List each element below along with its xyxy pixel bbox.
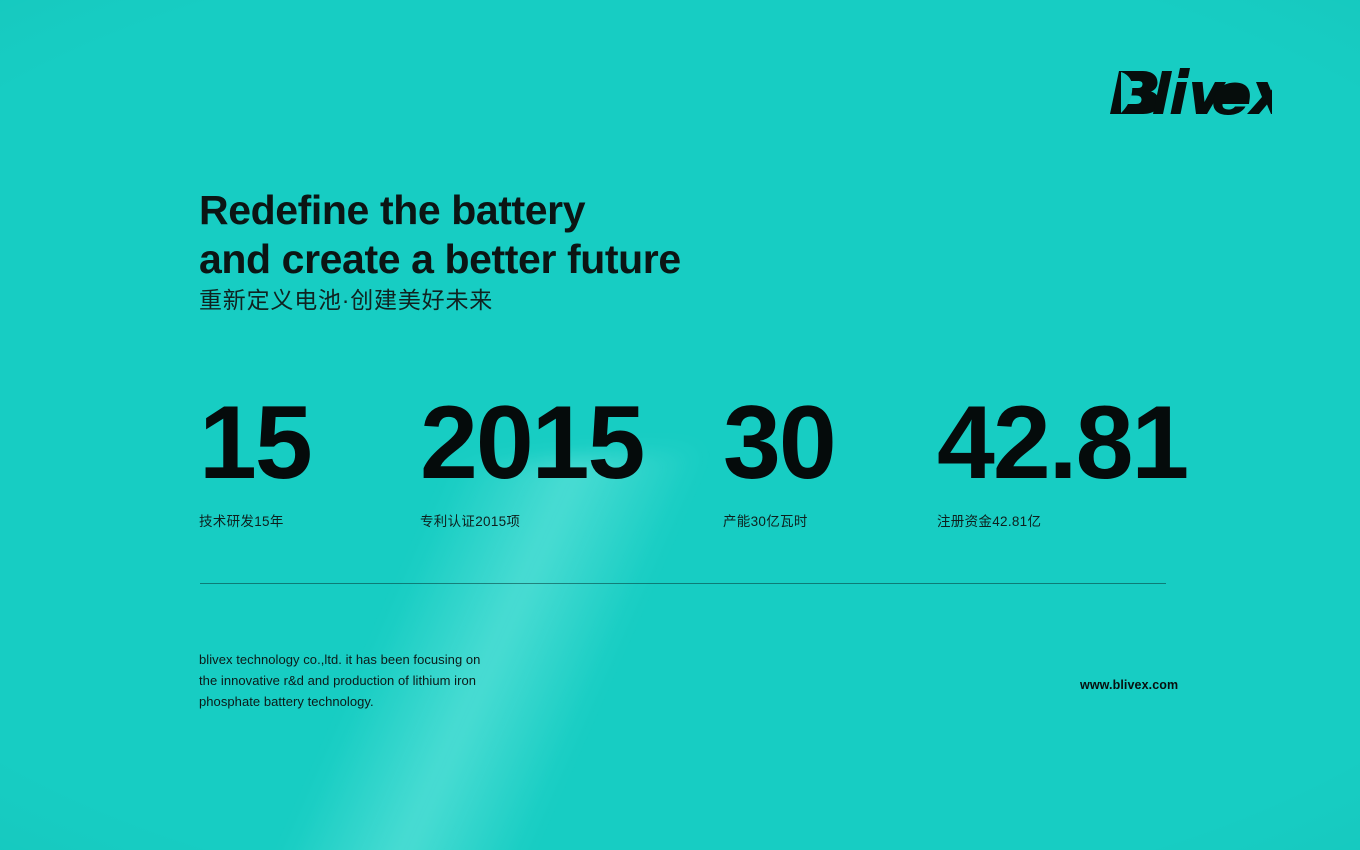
stat-value: 2015 — [420, 399, 643, 488]
company-description: blivex technology co.,ltd. it has been f… — [199, 649, 499, 712]
stat-item: 15 技术研发15年 — [199, 399, 311, 530]
headline-line-2: and create a better future — [199, 239, 681, 280]
stat-label: 专利认证2015项 — [420, 510, 643, 530]
stat-label: 产能30亿瓦时 — [723, 510, 835, 530]
slide-content: Redefine the battery and create a better… — [0, 0, 1360, 850]
stats-row: 15 技术研发15年 2015 专利认证2015项 30 产能30亿瓦时 42.… — [199, 385, 1179, 530]
stat-item: 42.81 注册资金42.81亿 — [937, 399, 1187, 530]
brand-slide: Redefine the battery and create a better… — [0, 0, 1360, 850]
stat-label: 技术研发15年 — [199, 510, 311, 530]
brand-logo[interactable] — [1106, 62, 1272, 122]
hero-headline: Redefine the battery and create a better… — [199, 190, 681, 280]
horizontal-divider — [200, 583, 1166, 584]
blivex-wordmark-icon — [1106, 67, 1272, 117]
hero-subheadline: 重新定义电池·创建美好未来 — [199, 281, 493, 315]
headline-line-1: Redefine the battery — [199, 187, 585, 233]
stat-value: 30 — [723, 399, 835, 488]
website-link[interactable]: www.blivex.com — [1080, 678, 1178, 692]
stat-item: 2015 专利认证2015项 — [420, 399, 643, 530]
stat-value: 42.81 — [937, 399, 1187, 488]
stat-label: 注册资金42.81亿 — [937, 510, 1187, 530]
stat-value: 15 — [199, 399, 311, 488]
stat-item: 30 产能30亿瓦时 — [723, 399, 835, 530]
